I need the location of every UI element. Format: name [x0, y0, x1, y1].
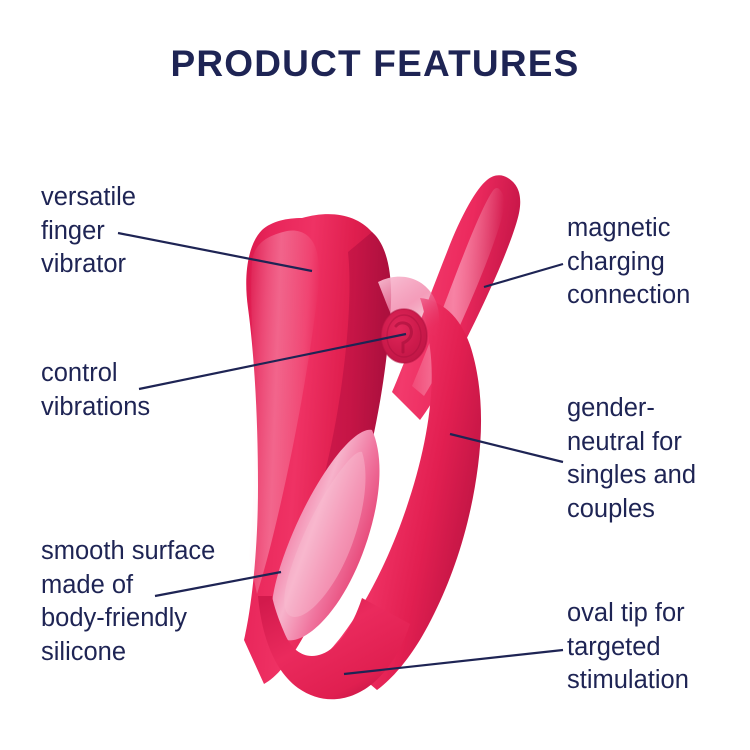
- product-illustration: [0, 0, 750, 750]
- product-features-infographic: PRODUCT FEATURES: [0, 0, 750, 750]
- control-button[interactable]: [381, 309, 427, 363]
